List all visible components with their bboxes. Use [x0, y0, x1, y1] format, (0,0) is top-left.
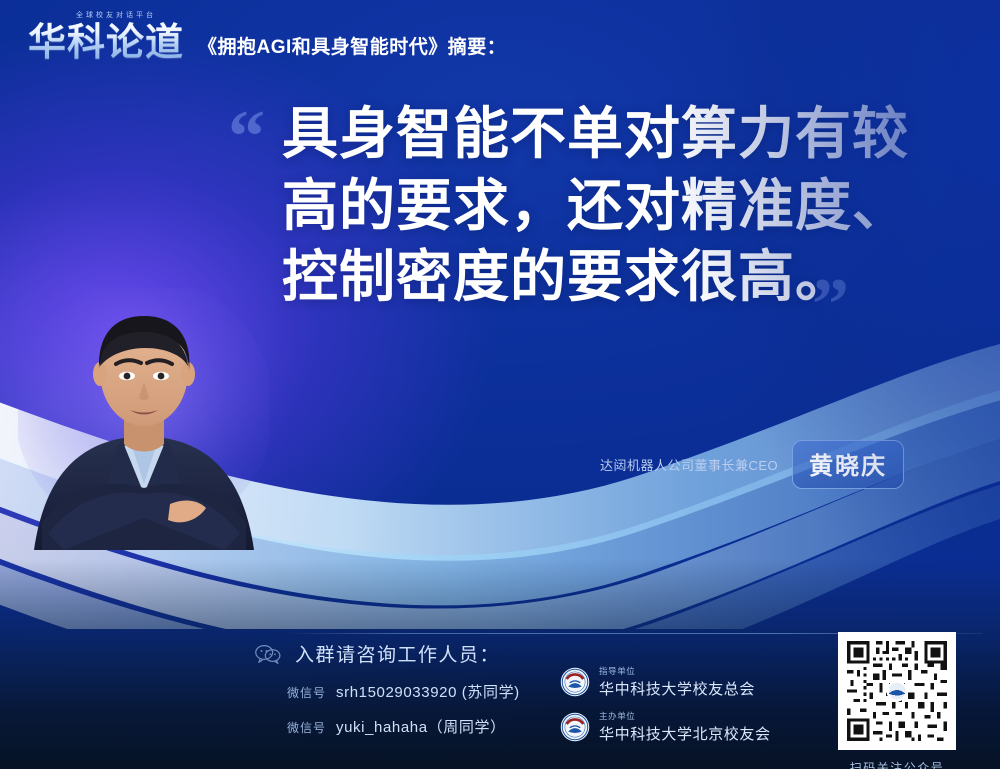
- poster-header: 全球校友对话平台 华科论道 《拥抱AGI和具身智能时代》摘要：: [28, 14, 506, 62]
- organization-row: 指导单位 华中科技大学校友总会: [560, 665, 771, 699]
- brand-logo: 全球校友对话平台 华科论道: [28, 14, 184, 62]
- wechat-label: 微信号: [287, 684, 326, 701]
- contact-row: 微信号 yuki_hahaha（周同学）: [287, 716, 520, 737]
- wechat-id: srh15029033920 (苏同学): [336, 681, 520, 702]
- page-title: 《拥抱AGI和具身智能时代》摘要：: [198, 18, 506, 59]
- contact-row: 微信号 srh15029033920 (苏同学): [287, 681, 520, 702]
- organization-name: 华中科技大学北京校友会: [599, 723, 771, 744]
- organization-row: 主办单位 华中科技大学北京校友会: [560, 710, 771, 744]
- organization-kind: 指导单位: [599, 665, 755, 677]
- quote-line-1: 具身智能不单对算力有较: [282, 98, 942, 170]
- wechat-id: yuki_hahaha（周同学）: [336, 716, 506, 737]
- organization-kind: 主办单位: [599, 710, 771, 722]
- quote-open-mark: “: [228, 100, 265, 174]
- qr-code-icon[interactable]: [838, 632, 956, 750]
- wechat-label: 微信号: [287, 719, 326, 736]
- speaker-attribution: 达闼机器人公司董事长兼CEO 黄晓庆: [600, 440, 904, 489]
- hust-seal-icon: [560, 667, 590, 697]
- poster-canvas: 全球校友对话平台 华科论道 《拥抱AGI和具身智能时代》摘要： “ 具身智能不单…: [0, 0, 1000, 769]
- speaker-role: 达闼机器人公司董事长兼CEO: [600, 455, 778, 474]
- brand-tagline: 全球校友对话平台: [76, 10, 156, 20]
- contact-title: 入群请咨询工作人员：: [295, 640, 500, 667]
- brand-logo-text: 华科论道: [28, 14, 184, 62]
- hust-seal-icon: [560, 712, 590, 742]
- qr-section: 扫码关注公众号: [838, 632, 956, 769]
- quote-line-2: 高的要求，还对精准度、: [282, 170, 942, 242]
- speaker-portrait: [18, 288, 270, 550]
- speaker-name-badge: 黄晓庆: [792, 440, 904, 489]
- wechat-icon: [255, 644, 281, 664]
- contact-section: 入群请咨询工作人员： 微信号 srh15029033920 (苏同学) 微信号 …: [255, 640, 520, 737]
- qr-caption: 扫码关注公众号: [838, 759, 956, 769]
- quote-close-mark: ”: [812, 268, 849, 342]
- organization-name: 华中科技大学校友总会: [599, 678, 755, 699]
- organizations-section: 指导单位 华中科技大学校友总会 主办单位 华中科技大学北京校友会: [560, 665, 771, 755]
